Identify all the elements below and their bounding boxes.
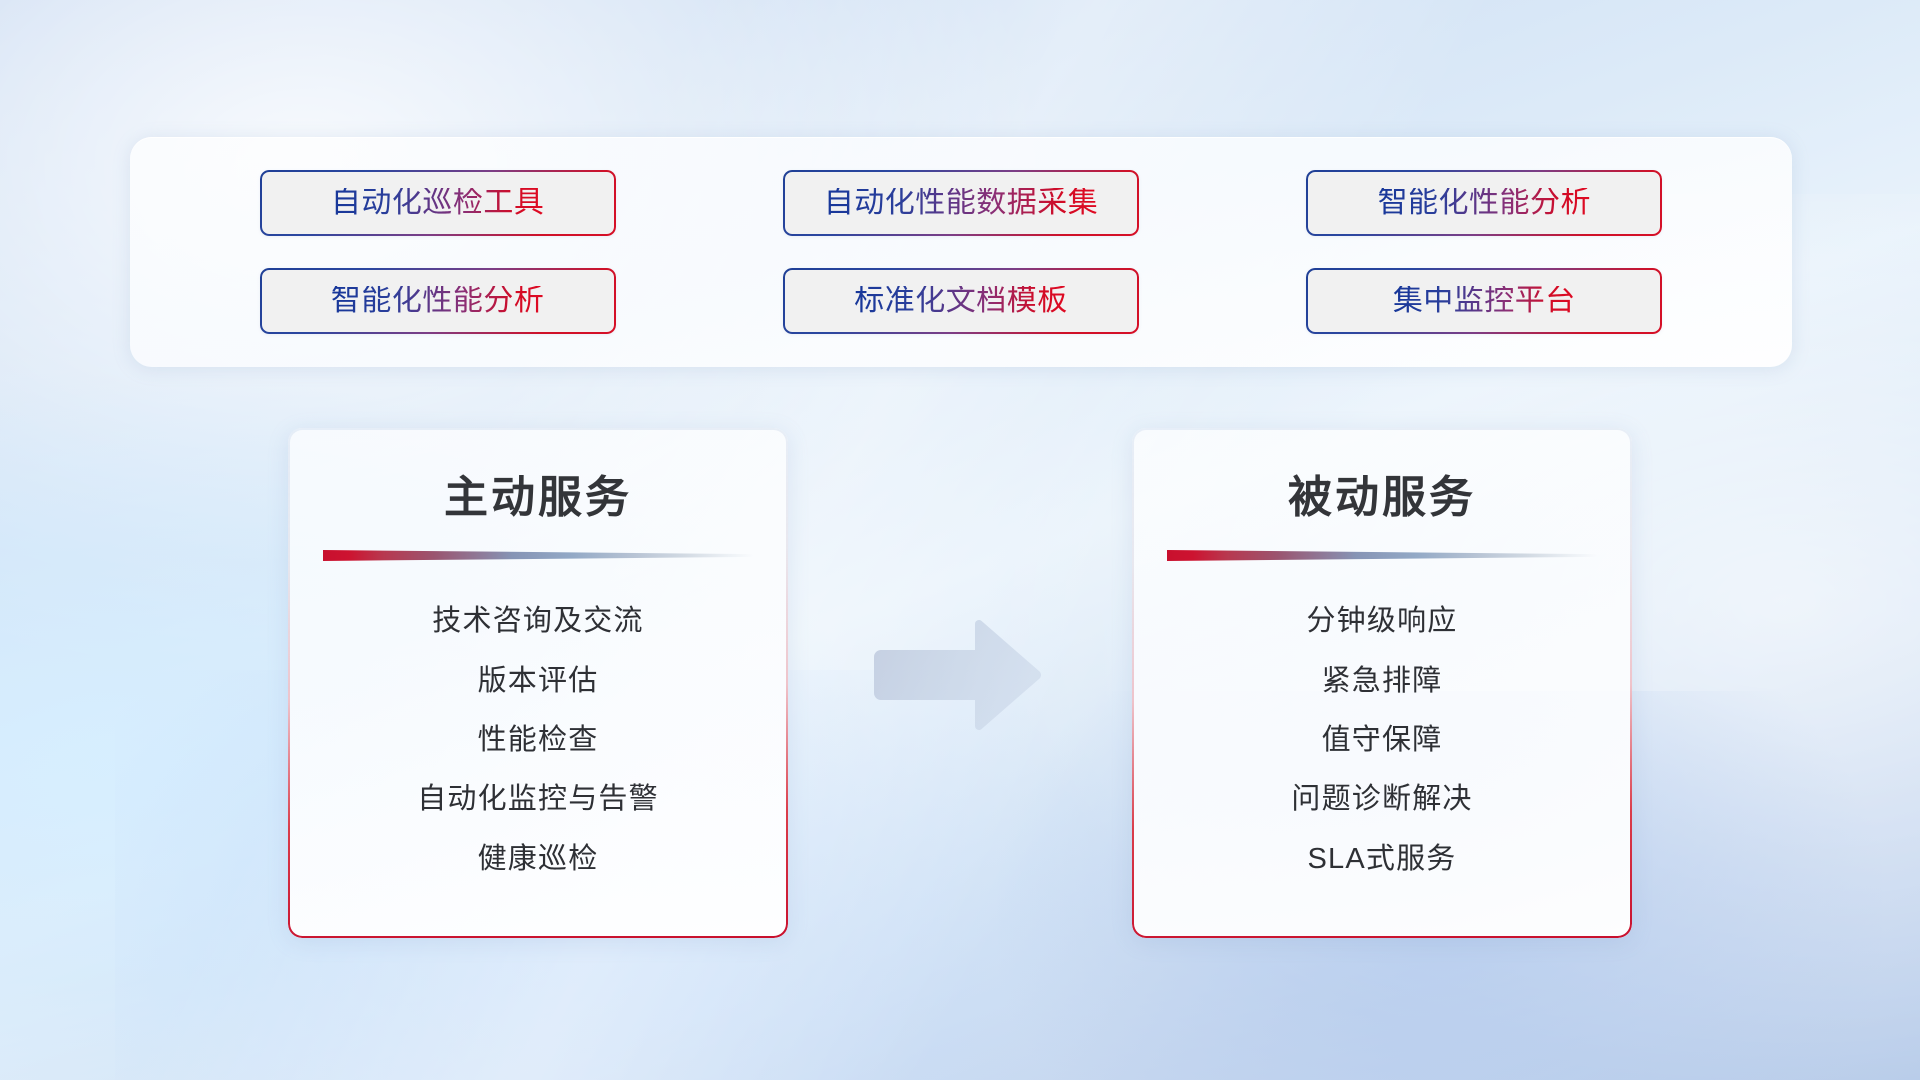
card-item-list: 分钟级响应 紧急排障 值守保障 问题诊断解决 SLA式服务: [1160, 571, 1604, 914]
list-item: SLA式服务: [1307, 845, 1456, 874]
capability-pill-centralized-monitoring-platform[interactable]: 集中监控平台: [1306, 268, 1662, 334]
list-item: 紧急排障: [1322, 667, 1443, 696]
card-title: 主动服务: [444, 476, 632, 520]
arrow-right-icon: [873, 620, 1043, 730]
list-item: 版本评估: [478, 667, 599, 696]
card-divider-bar: [323, 550, 753, 561]
capability-pill-label: 智能化性能分析: [1378, 188, 1592, 218]
capability-pill-label: 集中监控平台: [1393, 286, 1576, 316]
capability-pill-label: 智能化性能分析: [331, 286, 545, 316]
card-divider: [1167, 550, 1597, 561]
list-item: 自动化监控与告警: [417, 785, 659, 814]
list-item: 值守保障: [1322, 726, 1443, 755]
card-divider-bar: [1167, 550, 1597, 561]
capability-pill-standardized-document-template[interactable]: 标准化文档模板: [783, 268, 1139, 334]
capability-pill-grid: 自动化巡检工具 自动化性能数据采集 智能化性能分析 智能化性能分析 标准化文档模…: [130, 137, 1792, 367]
capability-pill-automated-inspection-tool[interactable]: 自动化巡检工具: [260, 170, 616, 236]
card-title: 被动服务: [1288, 476, 1476, 520]
card-item-list: 技术咨询及交流 版本评估 性能检查 自动化监控与告警 健康巡检: [316, 571, 760, 914]
service-card-reactive: 被动服务 分钟级响应 紧急排障 值守保障 问题诊断解决 SLA式服务: [1132, 428, 1632, 938]
list-item: 性能检查: [478, 726, 599, 755]
capability-pill-intelligent-performance-analysis-top[interactable]: 智能化性能分析: [1306, 170, 1662, 236]
list-item: 分钟级响应: [1306, 607, 1457, 636]
capability-pill-intelligent-performance-analysis-bottom[interactable]: 智能化性能分析: [260, 268, 616, 334]
diagram-stage: 自动化巡检工具 自动化性能数据采集 智能化性能分析 智能化性能分析 标准化文档模…: [0, 0, 1920, 1080]
service-card-proactive: 主动服务 技术咨询及交流 版本评估 性能检查 自动化监控与告警 健康巡检: [288, 428, 788, 938]
capability-pill-automated-performance-data-collection[interactable]: 自动化性能数据采集: [783, 170, 1139, 236]
list-item: 技术咨询及交流: [432, 607, 643, 636]
list-item: 健康巡检: [478, 845, 599, 874]
capability-pill-label: 自动化巡检工具: [331, 188, 545, 218]
list-item: 问题诊断解决: [1291, 785, 1472, 814]
card-divider: [323, 550, 753, 561]
capability-pill-label: 标准化文档模板: [854, 286, 1068, 316]
capability-panel: 自动化巡检工具 自动化性能数据采集 智能化性能分析 智能化性能分析 标准化文档模…: [130, 137, 1792, 367]
capability-pill-label: 自动化性能数据采集: [824, 188, 1099, 218]
